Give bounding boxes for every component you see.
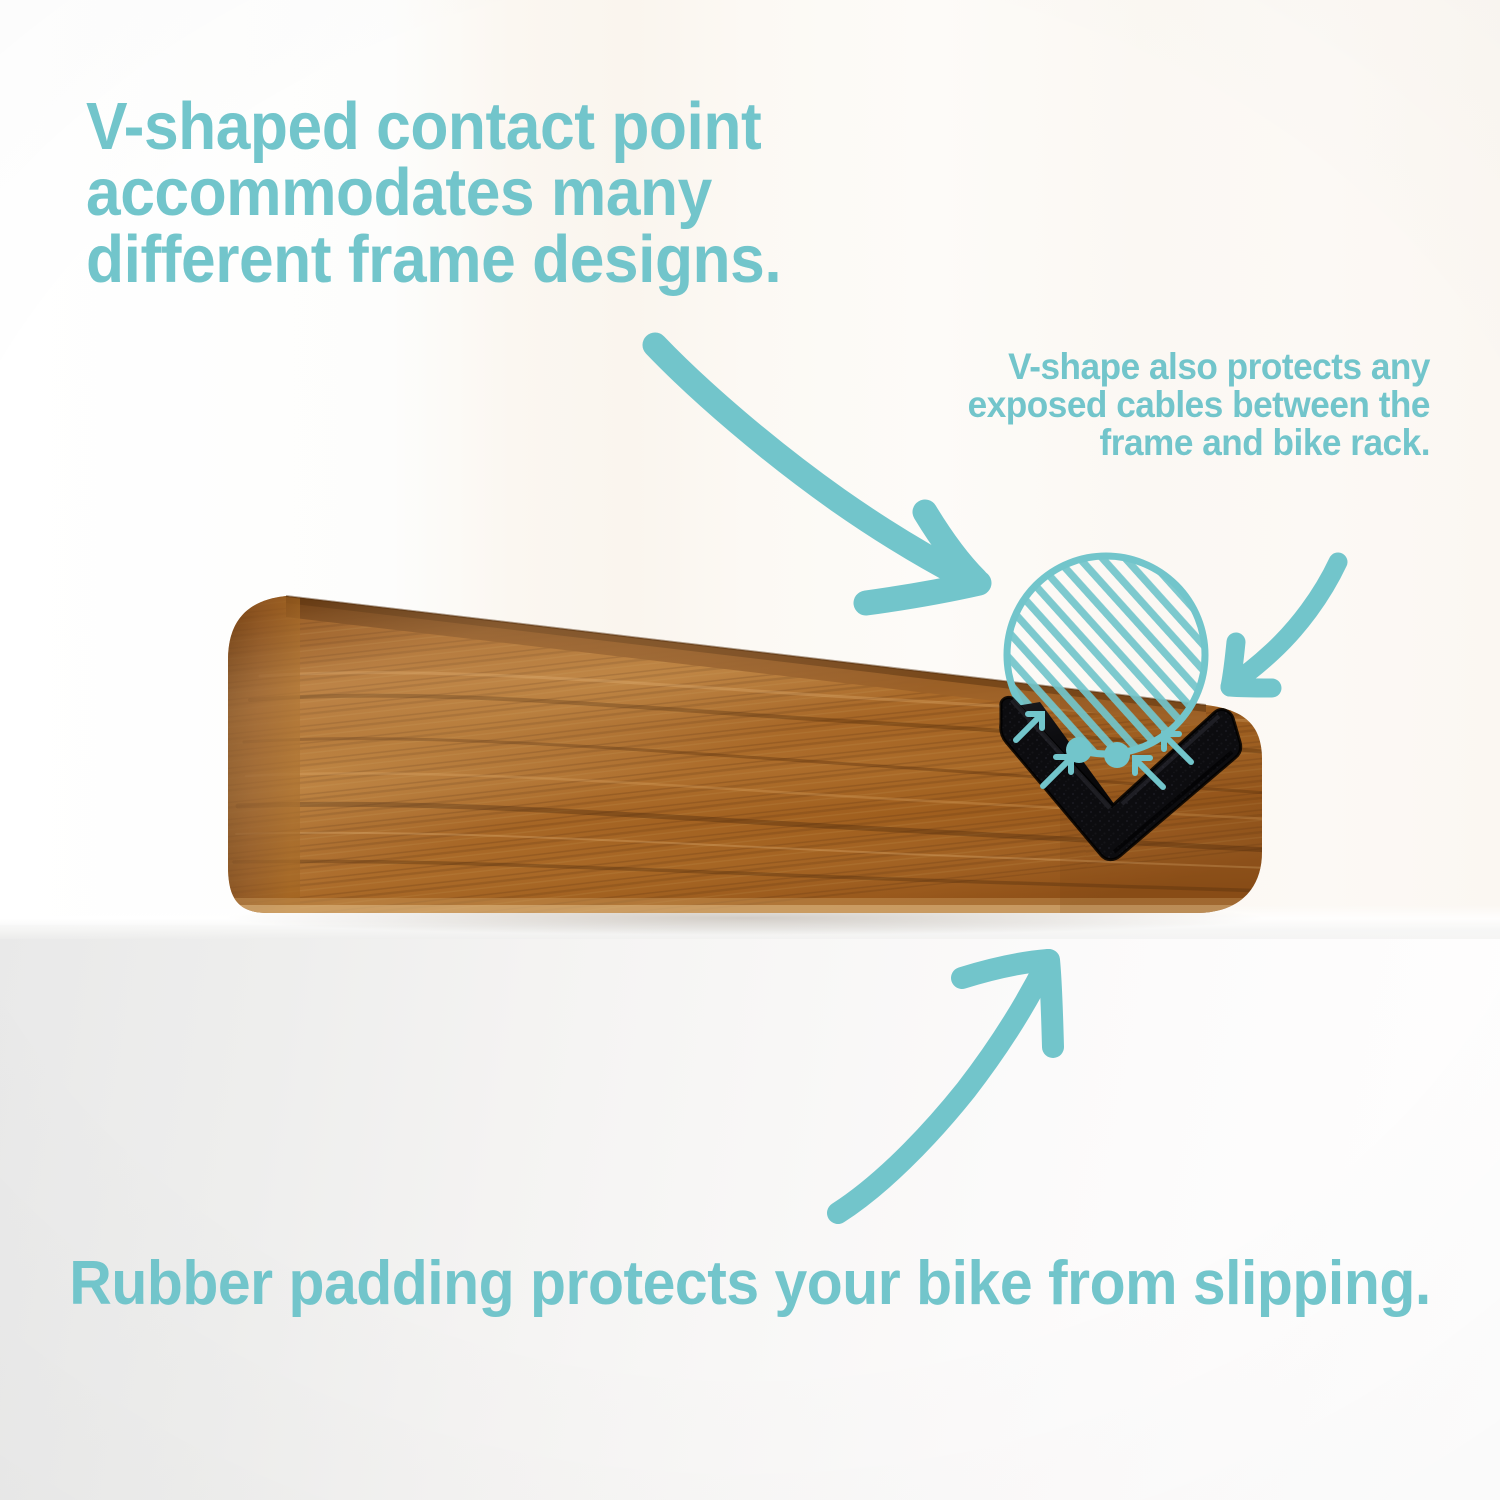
headline-text: V-shaped contact point accommodates many… [86,94,951,293]
arrow-padding-to-pad [838,960,1053,1213]
infographic-canvas: V-shaped contact point accommodates many… [0,0,1500,1500]
caption-cables-text: V-shape also protects any exposed cables… [936,348,1430,462]
caption-padding-text: Rubber padding protects your bike from s… [38,1252,1463,1315]
arrow-cables-to-pad [1230,562,1338,688]
arrow-headline-to-pad [655,345,979,603]
